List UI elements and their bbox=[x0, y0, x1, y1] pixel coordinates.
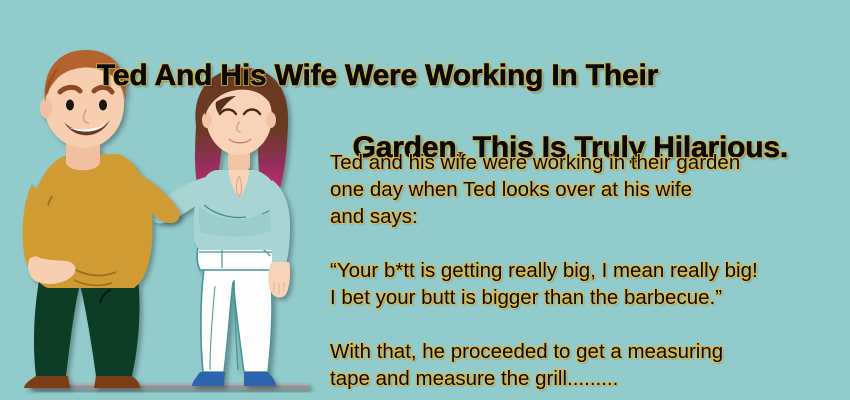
woman-hand bbox=[268, 262, 290, 297]
story-paragraph-1: Ted and his wife were working in their g… bbox=[330, 149, 840, 230]
story-paragraph-2: “Your b*tt is getting really big, I mean… bbox=[330, 257, 840, 311]
meme-canvas: Ted And His Wife Were Working In Their G… bbox=[0, 0, 850, 400]
story-body: Ted and his wife were working in their g… bbox=[330, 128, 840, 400]
story-paragraph-3: With that, he proceeded to get a measuri… bbox=[330, 338, 840, 392]
title-line-1: Ted And His Wife Were Working In Their bbox=[88, 58, 788, 94]
